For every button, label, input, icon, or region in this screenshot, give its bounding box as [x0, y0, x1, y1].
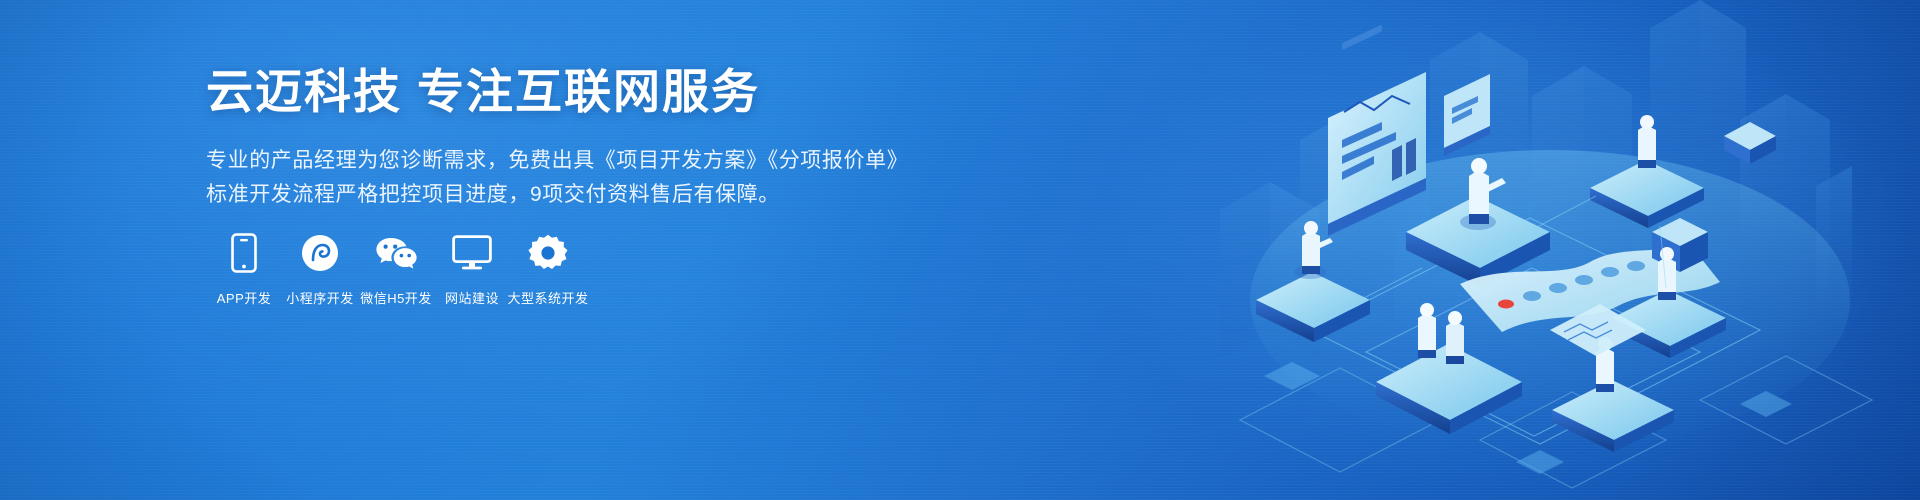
mobile-phone-icon: [231, 232, 257, 274]
wechat-icon: [374, 232, 418, 274]
service-label-mini-program: 小程序开发: [286, 288, 354, 307]
monitor-icon: [452, 232, 492, 274]
person-right-lower: [1658, 247, 1676, 300]
service-label-system: 大型系统开发: [508, 288, 589, 307]
service-label-app: APP开发: [217, 288, 272, 307]
service-item-mini-program[interactable]: 小程序开发: [282, 232, 358, 307]
person-bottom-b: [1446, 311, 1464, 364]
service-list: APP开发 小程序开发 微信: [206, 232, 586, 307]
service-item-system[interactable]: 大型系统开发: [510, 232, 586, 307]
person-bottom-a: [1418, 303, 1436, 358]
service-item-app[interactable]: APP开发: [206, 232, 282, 307]
banner-content: 云迈科技 专注互联网服务 专业的产品经理为您诊断需求，免费出具《项目开发方案》《…: [206, 66, 906, 212]
hero-banner: 云迈科技 专注互联网服务 专业的产品经理为您诊断需求，免费出具《项目开发方案》《…: [0, 0, 1920, 500]
service-label-website: 网站建设: [445, 288, 499, 307]
gear-icon: [528, 232, 568, 274]
banner-subtitle: 专业的产品经理为您诊断需求，免费出具《项目开发方案》《分项报价单》 标准开发流程…: [206, 144, 906, 212]
person-right-upper: [1638, 115, 1656, 168]
service-label-wechat-h5: 微信H5开发: [360, 288, 432, 307]
page-title: 云迈科技 专注互联网服务: [206, 66, 906, 118]
service-item-wechat-h5[interactable]: 微信H5开发: [358, 232, 434, 307]
subtitle-line-1: 专业的产品经理为您诊断需求，免费出具《项目开发方案》《分项报价单》: [206, 144, 906, 178]
secondary-screen: [1444, 74, 1490, 156]
service-item-website[interactable]: 网站建设: [434, 232, 510, 307]
subtitle-line-2: 标准开发流程严格把控项目进度，9项交付资料售后有保障。: [206, 178, 906, 212]
mini-program-icon: [301, 232, 339, 274]
floating-badge: [1724, 122, 1776, 164]
isometric-tech-illustration: [1160, 0, 1920, 500]
